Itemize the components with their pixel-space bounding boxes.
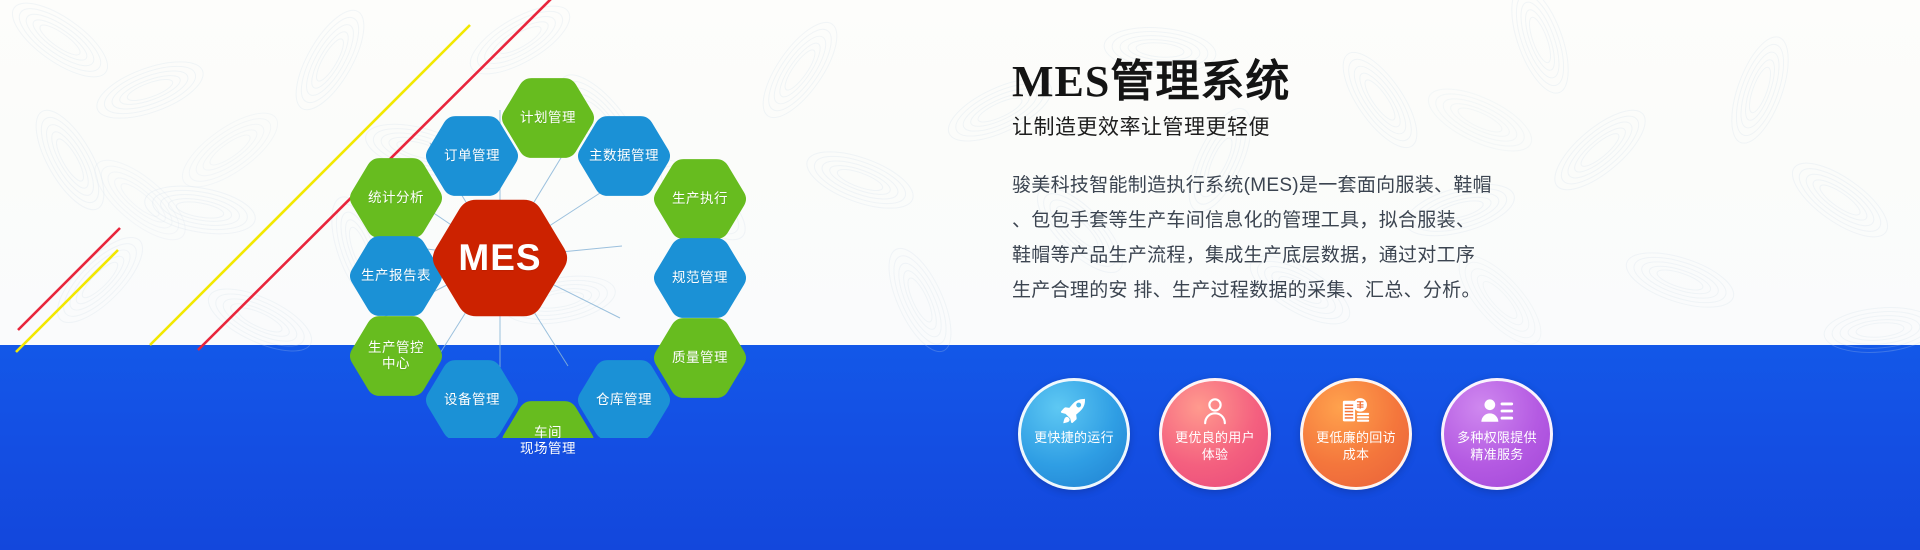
feature-badges: 更快捷的运行更优良的用户 体验更低廉的回访 成本多种权限提供 精准服务 — [1018, 378, 1578, 508]
feature-badge-3[interactable]: 多种权限提供 精准服务 — [1441, 378, 1553, 490]
feature-badge-2[interactable]: 更低廉的回访 成本 — [1300, 378, 1412, 490]
description-line-3: 生产合理的安 排、生产过程数据的采集、汇总、分析。 — [1012, 273, 1572, 308]
user-icon — [1200, 394, 1230, 428]
feature-badge-0[interactable]: 更快捷的运行 — [1018, 378, 1130, 490]
hex-node-8[interactable] — [654, 318, 746, 398]
description-line-0: 骏美科技智能制造执行系统(MES)是一套面向服装、鞋帽 — [1012, 168, 1572, 203]
hex-node-9[interactable] — [426, 360, 518, 438]
user-list-icon — [1480, 394, 1514, 428]
hex-node-1[interactable] — [426, 116, 518, 196]
hex-node-4[interactable] — [654, 159, 746, 239]
feature-badge-1[interactable]: 更优良的用户 体验 — [1159, 378, 1271, 490]
copy-block: MES管理系统 让制造更效率让管理更轻便 骏美科技智能制造执行系统(MES)是一… — [1012, 56, 1632, 308]
description-line-2: 鞋帽等产品生产流程，集成生产底层数据，通过对工序 — [1012, 238, 1572, 273]
hex-node-0[interactable] — [502, 78, 594, 158]
hex-node-3[interactable] — [350, 158, 442, 238]
hex-diagram-svg — [320, 18, 820, 438]
hex-node-7[interactable] — [350, 316, 442, 396]
coins-icon — [1341, 394, 1371, 428]
description-paragraph: 骏美科技智能制造执行系统(MES)是一套面向服装、鞋帽、包包手套等生产车间信息化… — [1012, 168, 1572, 308]
mes-hex-diagram: 计划管理订单管理主数据管理统计分析生产执行生产报告表规范管理生产管控 中心质量管… — [320, 18, 820, 438]
feature-badge-label-2: 更低廉的回访 成本 — [1316, 429, 1396, 463]
feature-badge-label-1: 更优良的用户 体验 — [1175, 429, 1255, 463]
hex-shapes-group — [350, 78, 746, 438]
page-subtitle: 让制造更效率让管理更轻便 — [1012, 114, 1632, 142]
hex-node-10[interactable] — [578, 360, 670, 438]
background-bottom-blue-band — [0, 345, 1920, 550]
mes-banner: 计划管理订单管理主数据管理统计分析生产执行生产报告表规范管理生产管控 中心质量管… — [0, 0, 1920, 550]
rocket-icon — [1059, 394, 1089, 428]
hex-node-5[interactable] — [350, 236, 442, 316]
feature-badge-label-3: 多种权限提供 精准服务 — [1457, 429, 1537, 463]
hex-center-mes[interactable] — [433, 200, 567, 316]
hex-node-6[interactable] — [654, 238, 746, 318]
hex-node-2[interactable] — [578, 116, 670, 196]
page-title: MES管理系统 — [1012, 56, 1632, 108]
feature-badge-label-0: 更快捷的运行 — [1034, 429, 1114, 446]
description-line-1: 、包包手套等生产车间信息化的管理工具，拟合服装、 — [1012, 203, 1572, 238]
